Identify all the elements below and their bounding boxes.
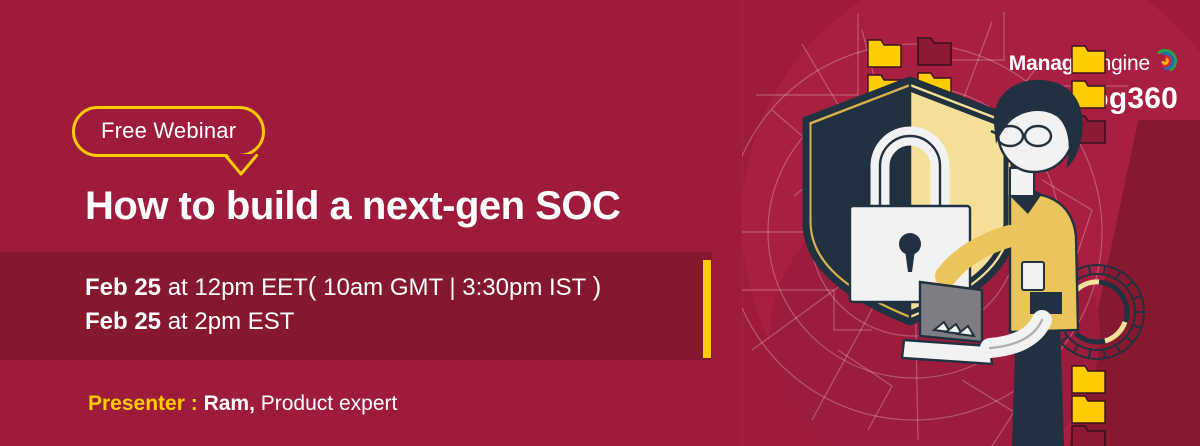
- folder-icon: [1072, 366, 1105, 393]
- webinar-banner: ManageEngine Log360 Free Webinar How to …: [0, 0, 1200, 446]
- schedule-at: at: [161, 274, 194, 301]
- folder-icon: [868, 40, 901, 67]
- presenter-label: Presenter :: [88, 392, 204, 415]
- schedule-at: at: [161, 308, 194, 335]
- schedule-list: Feb 25 at 12pm EET( 10am GMT | 3:30pm IS…: [85, 268, 601, 339]
- page-title: How to build a next-gen SOC: [85, 184, 620, 229]
- presenter-role: Product expert: [255, 392, 397, 415]
- schedule-accent-bar: [703, 260, 711, 358]
- schedule-date: Feb 25: [85, 274, 161, 301]
- schedule-primary-time: 2pm EST: [194, 308, 294, 335]
- schedule-close-paren: ): [593, 271, 602, 301]
- schedule-primary-time: 12pm EET: [194, 274, 307, 301]
- folder-icon: [1072, 426, 1105, 446]
- free-webinar-badge-label: Free Webinar: [72, 106, 265, 157]
- schedule-row: Feb 25 at 2pm EST: [85, 305, 601, 339]
- security-illustration: [742, 0, 1200, 446]
- schedule-row: Feb 25 at 12pm EET( 10am GMT | 3:30pm IS…: [85, 268, 601, 305]
- folder-group-right-bottom: [1072, 366, 1105, 446]
- free-webinar-badge: Free Webinar: [72, 106, 265, 157]
- presenter-name: Ram,: [204, 392, 255, 415]
- folder-icon: [1072, 396, 1105, 423]
- schedule-date: Feb 25: [85, 308, 161, 335]
- folder-icon: [918, 38, 951, 65]
- folder-icon: [1072, 46, 1105, 73]
- presenter-line: Presenter : Ram, Product expert: [88, 392, 397, 416]
- schedule-alt-times: 10am GMT | 3:30pm IST: [316, 274, 592, 301]
